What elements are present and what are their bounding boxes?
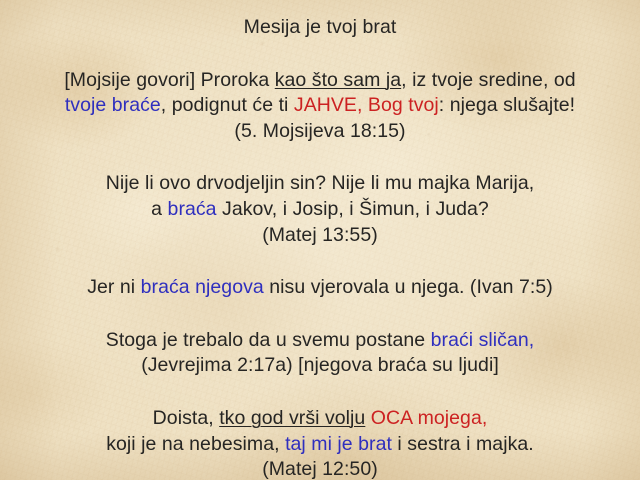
text-run: (Jevrejima 2:17a) [njegova braća su ljud… (141, 354, 499, 376)
text-run: , podignut će ti (161, 94, 294, 116)
spacer (6, 379, 634, 406)
text-run-highlight-blue: tvoje braće (65, 94, 161, 116)
slide-text-body: Mesija je tvoj brat [Mojsije govori] Pro… (0, 0, 640, 480)
text-run-highlight-red: JAHVE, Bog tvoj (294, 94, 439, 116)
passage-line: koji je na nebesima, taj mi je brat i se… (6, 432, 634, 458)
text-run: : njega slušajte! (439, 94, 575, 116)
passage-line: Doista, tko god vrši volju OCA mojega, (6, 406, 634, 432)
text-run: [Mojsije govori] Proroka (64, 69, 274, 91)
passage-line: tvoje braće, podignut će ti JAHVE, Bog t… (6, 93, 634, 119)
passage-matthew-12-50: Doista, tko god vrši volju OCA mojega, k… (6, 406, 634, 480)
passage-john-7-5: Jer ni braća njegova nisu vjerovala u nj… (6, 275, 634, 301)
text-run-highlight-blue: braća (168, 198, 217, 220)
text-run-underlined: kao što sam ja (275, 69, 401, 91)
text-run-highlight-red: OCA mojega, (371, 407, 488, 429)
passage-deuteronomy: [Mojsije govori] Proroka kao što sam ja,… (6, 68, 634, 145)
spacer-after-title (6, 41, 634, 68)
text-run-highlight-blue: taj mi je brat (285, 433, 392, 455)
scripture-reference: (Matej 13:55) (6, 223, 634, 249)
passage-line: Nije li ovo drvodjeljin sin? Nije li mu … (6, 171, 634, 197)
text-run: Stoga je trebalo da u svemu postane (106, 329, 431, 351)
text-run-highlight-blue: braći sličan, (431, 329, 535, 351)
passage-matthew-13-55: Nije li ovo drvodjeljin sin? Nije li mu … (6, 171, 634, 248)
passage-line: a braća Jakov, i Josip, i Šimun, i Juda? (6, 197, 634, 223)
text-run: a (151, 198, 167, 220)
text-run: i sestra i majka. (392, 433, 534, 455)
spacer (6, 301, 634, 328)
passage-line: Stoga je trebalo da u svemu postane brać… (6, 328, 634, 354)
slide-title: Mesija je tvoj brat (6, 15, 634, 41)
passage-hebrews-2-17: Stoga je trebalo da u svemu postane brać… (6, 328, 634, 379)
passage-line: [Mojsije govori] Proroka kao što sam ja,… (6, 68, 634, 94)
spacer (6, 248, 634, 275)
scripture-reference: (Matej 12:50) (6, 457, 634, 480)
text-run: Nije li ovo drvodjeljin sin? Nije li mu … (106, 172, 535, 194)
text-run: Jakov, i Josip, i Šimun, i Juda? (217, 198, 489, 220)
spacer (6, 144, 634, 171)
text-run: Doista, (153, 407, 220, 429)
slide-canvas: Mesija je tvoj brat [Mojsije govori] Pro… (0, 0, 640, 480)
passage-line-reference-note: (Jevrejima 2:17a) [njegova braća su ljud… (6, 353, 634, 379)
scripture-reference: (5. Mojsijeva 18:15) (6, 119, 634, 145)
text-run: nisu vjerovala u njega. (Ivan 7:5) (264, 276, 553, 298)
text-run-underlined: tko god vrši volju (219, 407, 365, 429)
text-run: Jer ni (87, 276, 140, 298)
passage-line: Jer ni braća njegova nisu vjerovala u nj… (6, 275, 634, 301)
text-run: koji je na nebesima, (106, 433, 285, 455)
text-run: , iz tvoje sredine, od (401, 69, 576, 91)
text-run-highlight-blue: braća njegova (141, 276, 264, 298)
